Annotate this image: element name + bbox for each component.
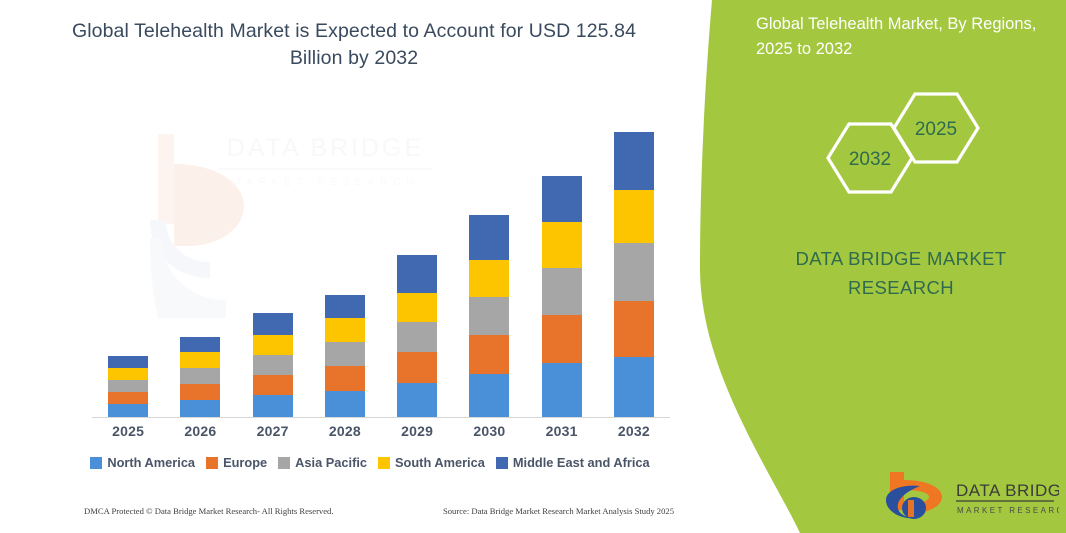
bar-segment	[397, 255, 437, 293]
legend-item[interactable]: Middle East and Africa	[496, 455, 650, 470]
x-tick-2026: 2026	[164, 423, 236, 447]
bar-segment	[542, 363, 582, 417]
hexagon-2032-label: 2032	[849, 149, 891, 170]
footer-source: Source: Data Bridge Market Research Mark…	[443, 506, 674, 516]
bar-segment	[325, 391, 365, 417]
legend-label: Middle East and Africa	[513, 455, 650, 470]
hexagon-2025-label: 2025	[915, 119, 957, 140]
bar-segment	[180, 352, 220, 368]
legend-label: South America	[395, 455, 485, 470]
bar-segment	[397, 383, 437, 417]
bar-stack	[253, 313, 293, 417]
bar-segment	[108, 404, 148, 417]
legend-label: Asia Pacific	[295, 455, 367, 470]
legend-item[interactable]: South America	[378, 455, 485, 470]
bar-group-2026[interactable]	[164, 110, 236, 417]
bar-segment	[180, 384, 220, 400]
bar-segment	[325, 342, 365, 366]
bar-segment	[469, 335, 509, 374]
legend-label: Europe	[223, 455, 267, 470]
bar-segment	[614, 132, 654, 190]
legend-swatch	[90, 457, 102, 469]
bar-segment	[614, 301, 654, 357]
bar-segment	[542, 268, 582, 315]
legend-swatch	[278, 457, 290, 469]
stacked-bar-chart	[92, 110, 670, 418]
logo-main-label: DATA BRIDGE	[956, 481, 1059, 500]
legend-swatch	[378, 457, 390, 469]
axis-baseline	[92, 417, 670, 418]
bar-segment	[253, 395, 293, 417]
legend-label: North America	[107, 455, 195, 470]
bar-segment	[397, 322, 437, 352]
x-tick-2032: 2032	[598, 423, 670, 447]
bar-group-2032[interactable]	[598, 110, 670, 417]
legend-item[interactable]: North America	[90, 455, 195, 470]
bar-segment	[542, 222, 582, 268]
bar-group-2030[interactable]	[453, 110, 525, 417]
footer: DMCA Protected © Data Bridge Market Rese…	[84, 506, 674, 516]
bar-segment	[108, 368, 148, 380]
bar-stack	[108, 356, 148, 417]
chart-panel: Global Telehealth Market is Expected to …	[0, 0, 706, 533]
bar-segment	[469, 374, 509, 417]
bar-segment	[614, 243, 654, 301]
data-bridge-logo: DATA BRIDGE MARKET RESEARCH	[884, 470, 1059, 526]
bar-segment	[180, 368, 220, 384]
bar-segment	[397, 352, 437, 383]
bar-segment	[469, 215, 509, 260]
bar-segment	[108, 356, 148, 368]
x-axis-labels: 20252026202720282029203020312032	[92, 423, 670, 447]
bar-segment	[469, 297, 509, 335]
logo-sub-label: MARKET RESEARCH	[957, 506, 1059, 515]
bar-stack	[542, 176, 582, 417]
bar-segment	[180, 337, 220, 352]
page-title: Global Telehealth Market is Expected to …	[64, 18, 644, 72]
bar-segment	[325, 295, 365, 318]
infographic-root: Global Telehealth Market is Expected to …	[0, 0, 1066, 533]
bar-segment	[253, 313, 293, 335]
bar-segment	[108, 380, 148, 392]
legend-item[interactable]: Asia Pacific	[278, 455, 367, 470]
legend-swatch	[206, 457, 218, 469]
bar-stack	[397, 255, 437, 417]
bar-segment	[614, 357, 654, 417]
brand-name: DATA BRIDGE MARKET RESEARCH	[756, 244, 1046, 302]
right-panel: Global Telehealth Market, By Regions, 20…	[706, 0, 1066, 533]
x-tick-2031: 2031	[526, 423, 598, 447]
bar-group-2029[interactable]	[381, 110, 453, 417]
bar-segment	[397, 293, 437, 322]
bar-stack	[180, 337, 220, 417]
x-tick-2029: 2029	[381, 423, 453, 447]
right-panel-title: Global Telehealth Market, By Regions, 20…	[756, 12, 1046, 62]
bar-segment	[253, 355, 293, 375]
bar-segment	[469, 260, 509, 297]
x-tick-2027: 2027	[237, 423, 309, 447]
bar-group-2025[interactable]	[92, 110, 164, 417]
bar-stack	[614, 132, 654, 417]
bar-segment	[325, 366, 365, 391]
bar-group-2028[interactable]	[309, 110, 381, 417]
bar-group-2031[interactable]	[526, 110, 598, 417]
bar-segment	[542, 315, 582, 363]
bar-stack	[325, 295, 365, 417]
bar-segment	[253, 375, 293, 395]
x-tick-2028: 2028	[309, 423, 381, 447]
footer-copyright: DMCA Protected © Data Bridge Market Rese…	[84, 506, 334, 516]
chart-legend: North AmericaEuropeAsia PacificSouth Ame…	[60, 455, 680, 470]
bar-segment	[325, 318, 365, 342]
bar-segment	[542, 176, 582, 222]
legend-swatch	[496, 457, 508, 469]
bar-stack	[469, 215, 509, 417]
brand-line-2: RESEARCH	[756, 273, 1046, 302]
bar-segment	[108, 392, 148, 404]
brand-line-1: DATA BRIDGE MARKET	[756, 244, 1046, 273]
bar-segment	[180, 400, 220, 417]
x-tick-2030: 2030	[453, 423, 525, 447]
legend-item[interactable]: Europe	[206, 455, 267, 470]
hexagon-badges: 2032 2025	[816, 86, 1006, 206]
bar-segment	[614, 190, 654, 243]
x-tick-2025: 2025	[92, 423, 164, 447]
bar-series-container	[92, 110, 670, 417]
bar-segment	[253, 335, 293, 355]
bar-group-2027[interactable]	[237, 110, 309, 417]
